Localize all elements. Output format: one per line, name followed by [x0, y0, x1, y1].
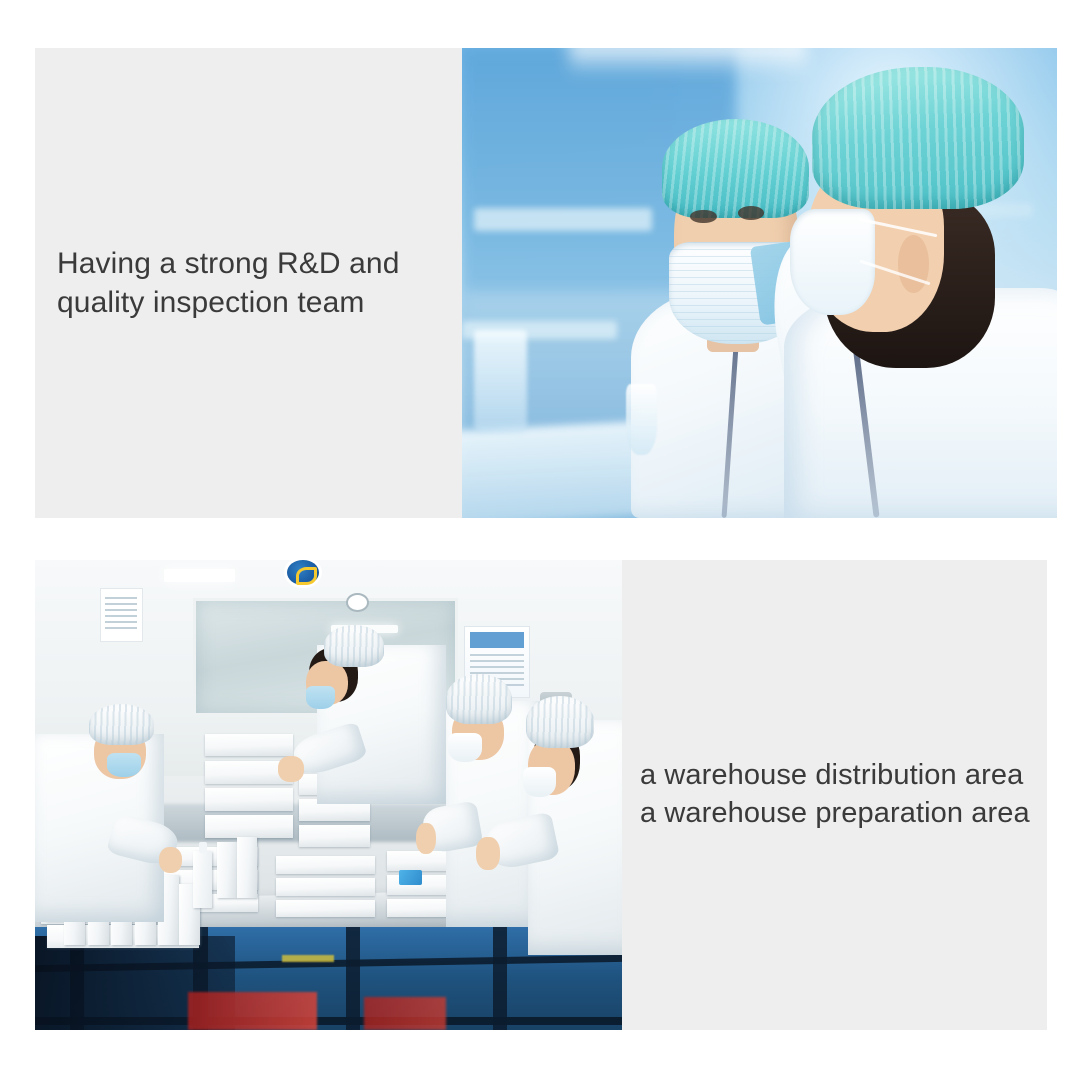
rd-quality-panel: Having a strong R&D and quality inspecti… [35, 48, 1057, 518]
carton-stack [205, 734, 293, 847]
warehouse-caption-pane: a warehouse distribution area a warehous… [622, 560, 1047, 1030]
wall-notice-board [100, 588, 143, 642]
face-mask-icon [306, 686, 334, 708]
worker-hand [159, 847, 182, 873]
rd-quality-caption-text: Having a strong R&D and quality inspecti… [57, 244, 399, 322]
blue-label [399, 870, 422, 885]
hairnet-cap-icon [662, 119, 810, 218]
worker-hand [416, 823, 436, 855]
lab-ear [898, 235, 929, 292]
worker-hand [278, 756, 304, 782]
wall-clock-icon [346, 593, 369, 612]
packing-worker [317, 645, 446, 805]
carton-upright [217, 842, 237, 898]
face-mask-icon [107, 753, 141, 777]
warehouse-panel: a warehouse distribution area a warehous… [35, 560, 1047, 1030]
hairnet-cap-icon [526, 696, 594, 748]
warehouse-caption-text: a warehouse distribution area a warehous… [640, 757, 1030, 832]
company-logo-icon [287, 560, 319, 585]
lab-worker-profile [795, 76, 1057, 518]
product-bottle [193, 851, 212, 907]
carton-upright [237, 837, 257, 898]
carton-stack [276, 856, 376, 917]
floor-marking [282, 955, 335, 963]
face-mask-icon [448, 733, 482, 762]
table-leg [346, 927, 360, 1030]
packing-worker [528, 720, 622, 955]
red-crate [364, 997, 446, 1030]
warehouse-packing-photo [35, 560, 622, 1030]
hairnet-cap-icon [89, 704, 154, 745]
hairnet-cap-icon [324, 625, 383, 667]
page-canvas: Having a strong R&D and quality inspecti… [0, 0, 1080, 1080]
hairnet-cap-icon [812, 67, 1023, 208]
face-mask-icon [523, 767, 556, 798]
rd-quality-caption-pane: Having a strong R&D and quality inspecti… [35, 48, 462, 518]
lab-ceiling-light [569, 48, 807, 76]
lab-quality-inspection-photo [462, 48, 1057, 518]
worker-hand [476, 837, 499, 870]
red-crate [188, 992, 317, 1030]
ceiling-light [164, 569, 234, 581]
lab-eye [738, 206, 764, 219]
lab-flask [626, 384, 657, 455]
table-leg [493, 927, 507, 1030]
lab-beaker [474, 330, 528, 433]
hairnet-cap-icon [446, 674, 512, 724]
packing-worker [35, 734, 164, 922]
